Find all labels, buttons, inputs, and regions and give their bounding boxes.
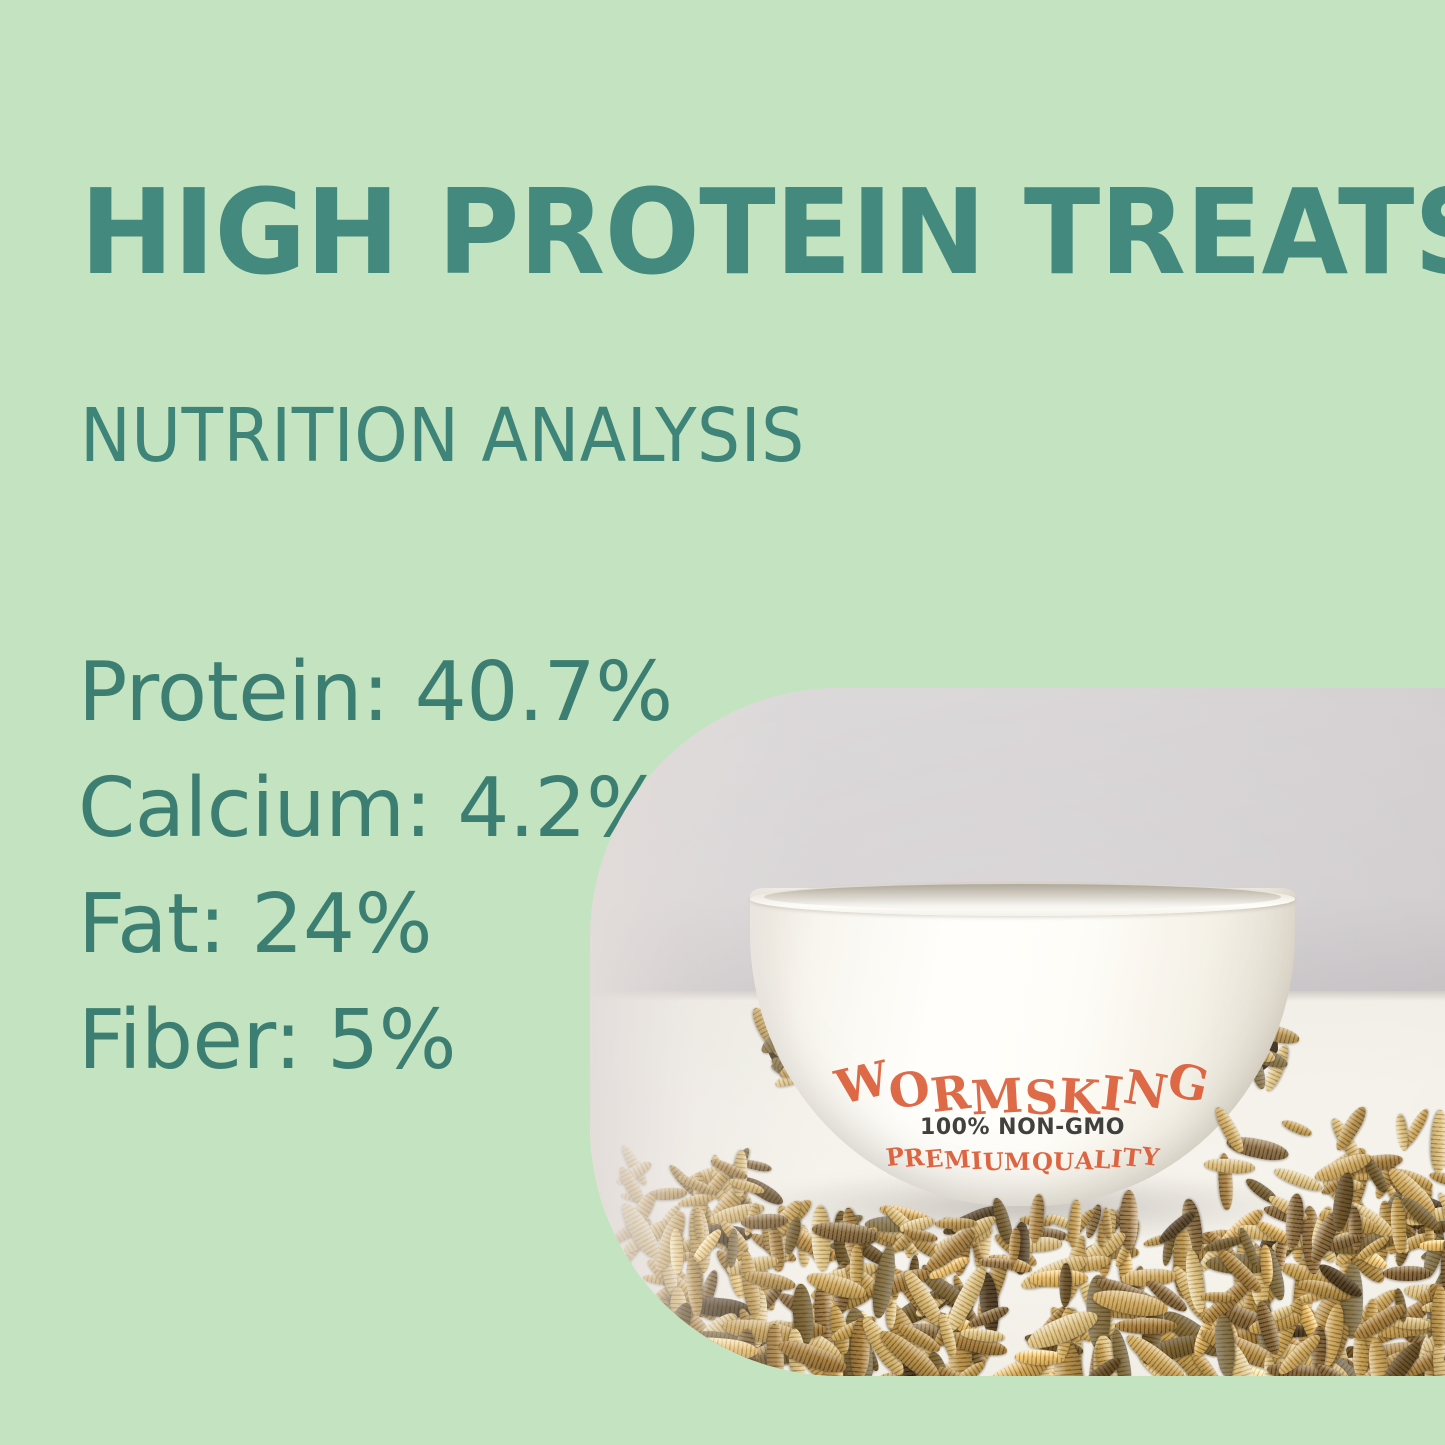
- bowl-logo-tagline: PREMIUM QUALITY: [813, 1142, 1233, 1171]
- nutrition-item-calcium: Calcium: 4.2%: [78, 751, 673, 867]
- nutrition-item-protein: Protein: 40.7%: [78, 635, 673, 751]
- nutrition-item-fiber: Fiber: 5%: [78, 983, 673, 1099]
- ceramic-bowl: WORMSKING 100% NON-GMO PREMIUM QUALITY: [750, 864, 1295, 1264]
- nutrition-item-fat: Fat: 24%: [78, 867, 673, 983]
- bowl-logo-brand: WORMSKING: [813, 1056, 1233, 1111]
- bowl-logo: WORMSKING 100% NON-GMO PREMIUM QUALITY: [813, 1056, 1233, 1171]
- bowl-logo-claim: 100% NON-GMO: [813, 1115, 1233, 1140]
- bowl-interior-shadow: [764, 884, 1281, 910]
- nutrition-analysis-list: Protein: 40.7% Calcium: 4.2% Fat: 24% Fi…: [78, 635, 673, 1099]
- page-title: HIGH PROTEIN TREATS: [80, 173, 1445, 291]
- product-photo: WORMSKING 100% NON-GMO PREMIUM QUALITY: [590, 688, 1445, 1376]
- page-subtitle: NUTRITION ANALYSIS: [80, 399, 805, 473]
- poster-canvas: HIGH PROTEIN TREATS NUTRITION ANALYSIS P…: [0, 0, 1445, 1445]
- bowl-body: WORMSKING 100% NON-GMO PREMIUM QUALITY: [750, 888, 1295, 1206]
